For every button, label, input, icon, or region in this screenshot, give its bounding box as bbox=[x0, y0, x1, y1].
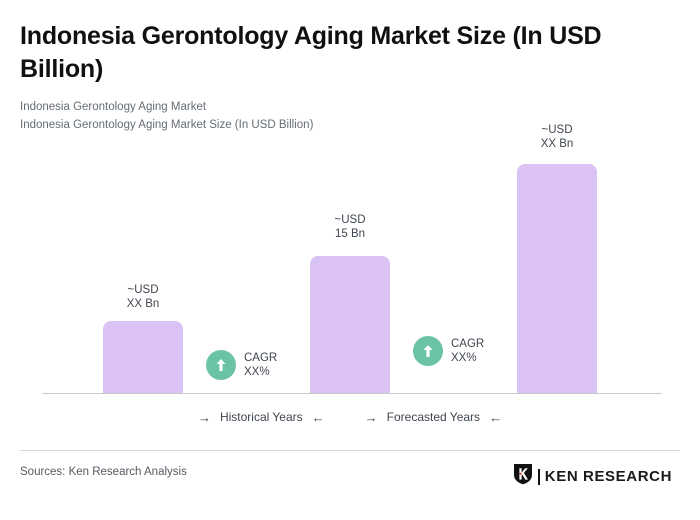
arrow-right-icon: → bbox=[365, 411, 378, 424]
bar-label-1-line-2: 15 Bn bbox=[290, 227, 410, 241]
cagr-marker-0[interactable]: CAGR XX% bbox=[206, 350, 277, 380]
cagr-marker-1-line-1: CAGR bbox=[451, 338, 484, 350]
arrow-up-icon bbox=[206, 350, 236, 380]
bar-label-2-line-2: XX Bn bbox=[497, 137, 617, 151]
cagr-marker-1-text: CAGR XX% bbox=[451, 337, 484, 365]
bar-label-1: ~USD 15 Bn bbox=[290, 213, 410, 241]
bar-2[interactable] bbox=[517, 164, 597, 394]
arrow-right-icon: → bbox=[198, 411, 211, 424]
cagr-marker-0-text: CAGR XX% bbox=[244, 351, 277, 379]
x-axis-line bbox=[42, 393, 662, 394]
cagr-marker-0-line-2: XX% bbox=[244, 366, 270, 378]
ken-research-logo: KEN RESEARCH bbox=[513, 463, 672, 490]
bar-label-0: ~USD XX Bn bbox=[83, 283, 203, 311]
cagr-marker-1[interactable]: CAGR XX% bbox=[413, 336, 484, 366]
footer-divider bbox=[20, 450, 680, 451]
cagr-marker-1-line-2: XX% bbox=[451, 352, 477, 364]
bar-label-0-line-1: ~USD bbox=[83, 283, 203, 297]
ken-research-wordmark: KEN RESEARCH bbox=[545, 469, 672, 484]
legend-item-historical-years-label: Historical Years bbox=[220, 410, 303, 424]
logo-divider bbox=[538, 469, 540, 485]
chart-canvas: Indonesia Gerontology Aging Market Size … bbox=[0, 0, 700, 520]
ken-research-shield-icon bbox=[513, 463, 533, 490]
arrow-up-icon bbox=[413, 336, 443, 366]
arrow-left-icon: ← bbox=[312, 411, 325, 424]
bar-1[interactable] bbox=[310, 256, 390, 394]
bar-label-1-line-1: ~USD bbox=[290, 213, 410, 227]
legend-item-historical-years[interactable]: → Historical Years ← bbox=[198, 410, 325, 424]
bar-0[interactable] bbox=[103, 321, 183, 394]
bar-label-2-line-1: ~USD bbox=[497, 123, 617, 137]
bar-label-2: ~USD XX Bn bbox=[497, 123, 617, 151]
arrow-left-icon: ← bbox=[489, 411, 502, 424]
legend: → Historical Years ← → Forecasted Years … bbox=[0, 410, 700, 424]
cagr-marker-0-line-1: CAGR bbox=[244, 352, 277, 364]
legend-item-forecasted-years-label: Forecasted Years bbox=[387, 410, 480, 424]
bar-label-0-line-2: XX Bn bbox=[83, 297, 203, 311]
plot-area: ~USD XX Bn CAGR XX% ~USD 15 Bn bbox=[0, 0, 700, 520]
sources-text: Sources: Ken Research Analysis bbox=[20, 466, 187, 478]
legend-item-forecasted-years[interactable]: → Forecasted Years ← bbox=[365, 410, 502, 424]
